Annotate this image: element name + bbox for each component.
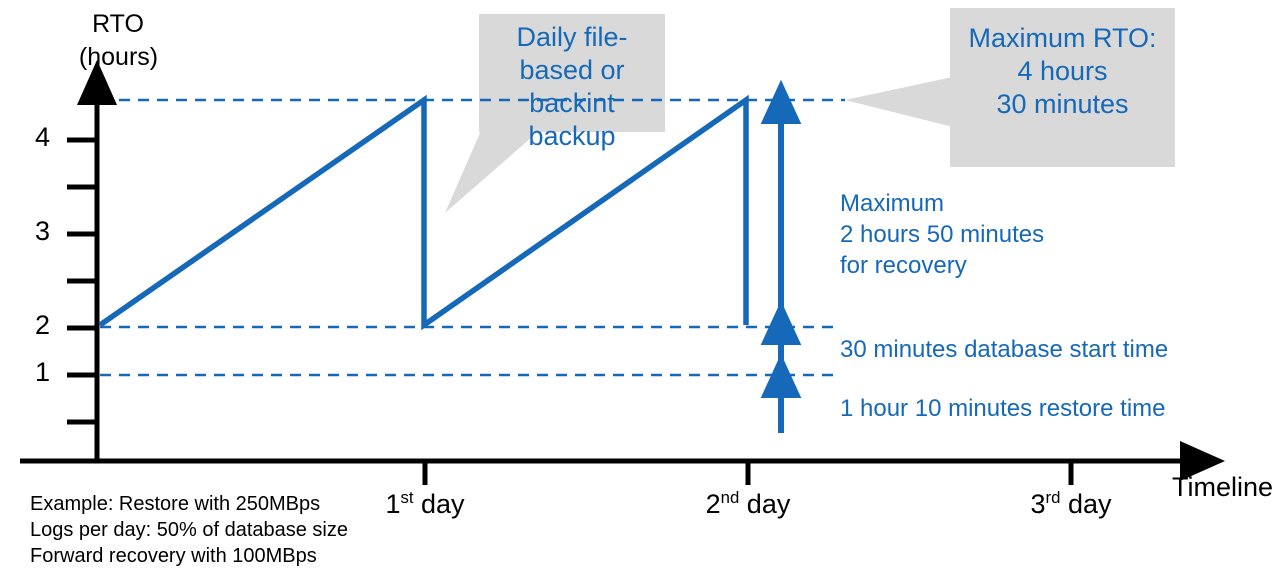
example-note-line1: Example: Restore with 250MBps <box>30 491 320 518</box>
y-tick-label-4: 4 <box>10 122 50 154</box>
y-axis-ticks <box>67 140 97 422</box>
x-tick-label-day1: 1st day <box>345 489 505 521</box>
example-note-line3: Forward recovery with 100MBps <box>30 543 317 570</box>
x-tick-label-day3-rest: day <box>1060 489 1111 519</box>
database-start-annotation: 30 minutes database start time <box>840 334 1168 365</box>
x-tick-label-day2-num: 2 <box>706 489 721 519</box>
x-tick-label-day1-num: 1 <box>385 489 400 519</box>
x-tick-label-day3-ord: rd <box>1046 488 1061 507</box>
maximum-recovery-annotation-line1: Maximum <box>840 188 944 219</box>
x-axis-title: Timeline <box>1172 472 1273 504</box>
maximum-recovery-annotation-line2: 2 hours 50 minutes <box>840 219 1044 250</box>
maximum-rto-callout-text: Maximum RTO: 4 hours 30 minutes <box>950 22 1175 121</box>
x-tick-label-day1-rest: day <box>414 489 465 519</box>
y-tick-label-2: 2 <box>10 310 50 342</box>
x-tick-label-day2: 2nd day <box>668 489 828 521</box>
y-axis-title-line2: (hours) <box>46 43 191 73</box>
x-axis-ticks <box>425 461 1071 485</box>
x-tick-label-day3-num: 3 <box>1031 489 1046 519</box>
rto-timeline-diagram: RTO (hours) 4 3 2 1 1st day 2nd day 3rd … <box>0 0 1286 575</box>
x-tick-label-day2-rest: day <box>739 489 790 519</box>
y-axis-title-line1: RTO <box>58 10 178 40</box>
daily-backup-callout-text: Daily file- based or backint backup <box>479 21 665 153</box>
y-tick-label-1: 1 <box>10 357 50 389</box>
restore-time-annotation: 1 hour 10 minutes restore time <box>840 393 1166 424</box>
x-tick-label-day1-ord: st <box>400 488 413 507</box>
example-note-line2: Logs per day: 50% of database size <box>30 517 348 544</box>
x-tick-label-day2-ord: nd <box>721 488 740 507</box>
maximum-recovery-annotation-line3: for recovery <box>840 250 967 281</box>
x-tick-label-day3: 3rd day <box>991 489 1151 521</box>
y-tick-label-3: 3 <box>10 216 50 248</box>
